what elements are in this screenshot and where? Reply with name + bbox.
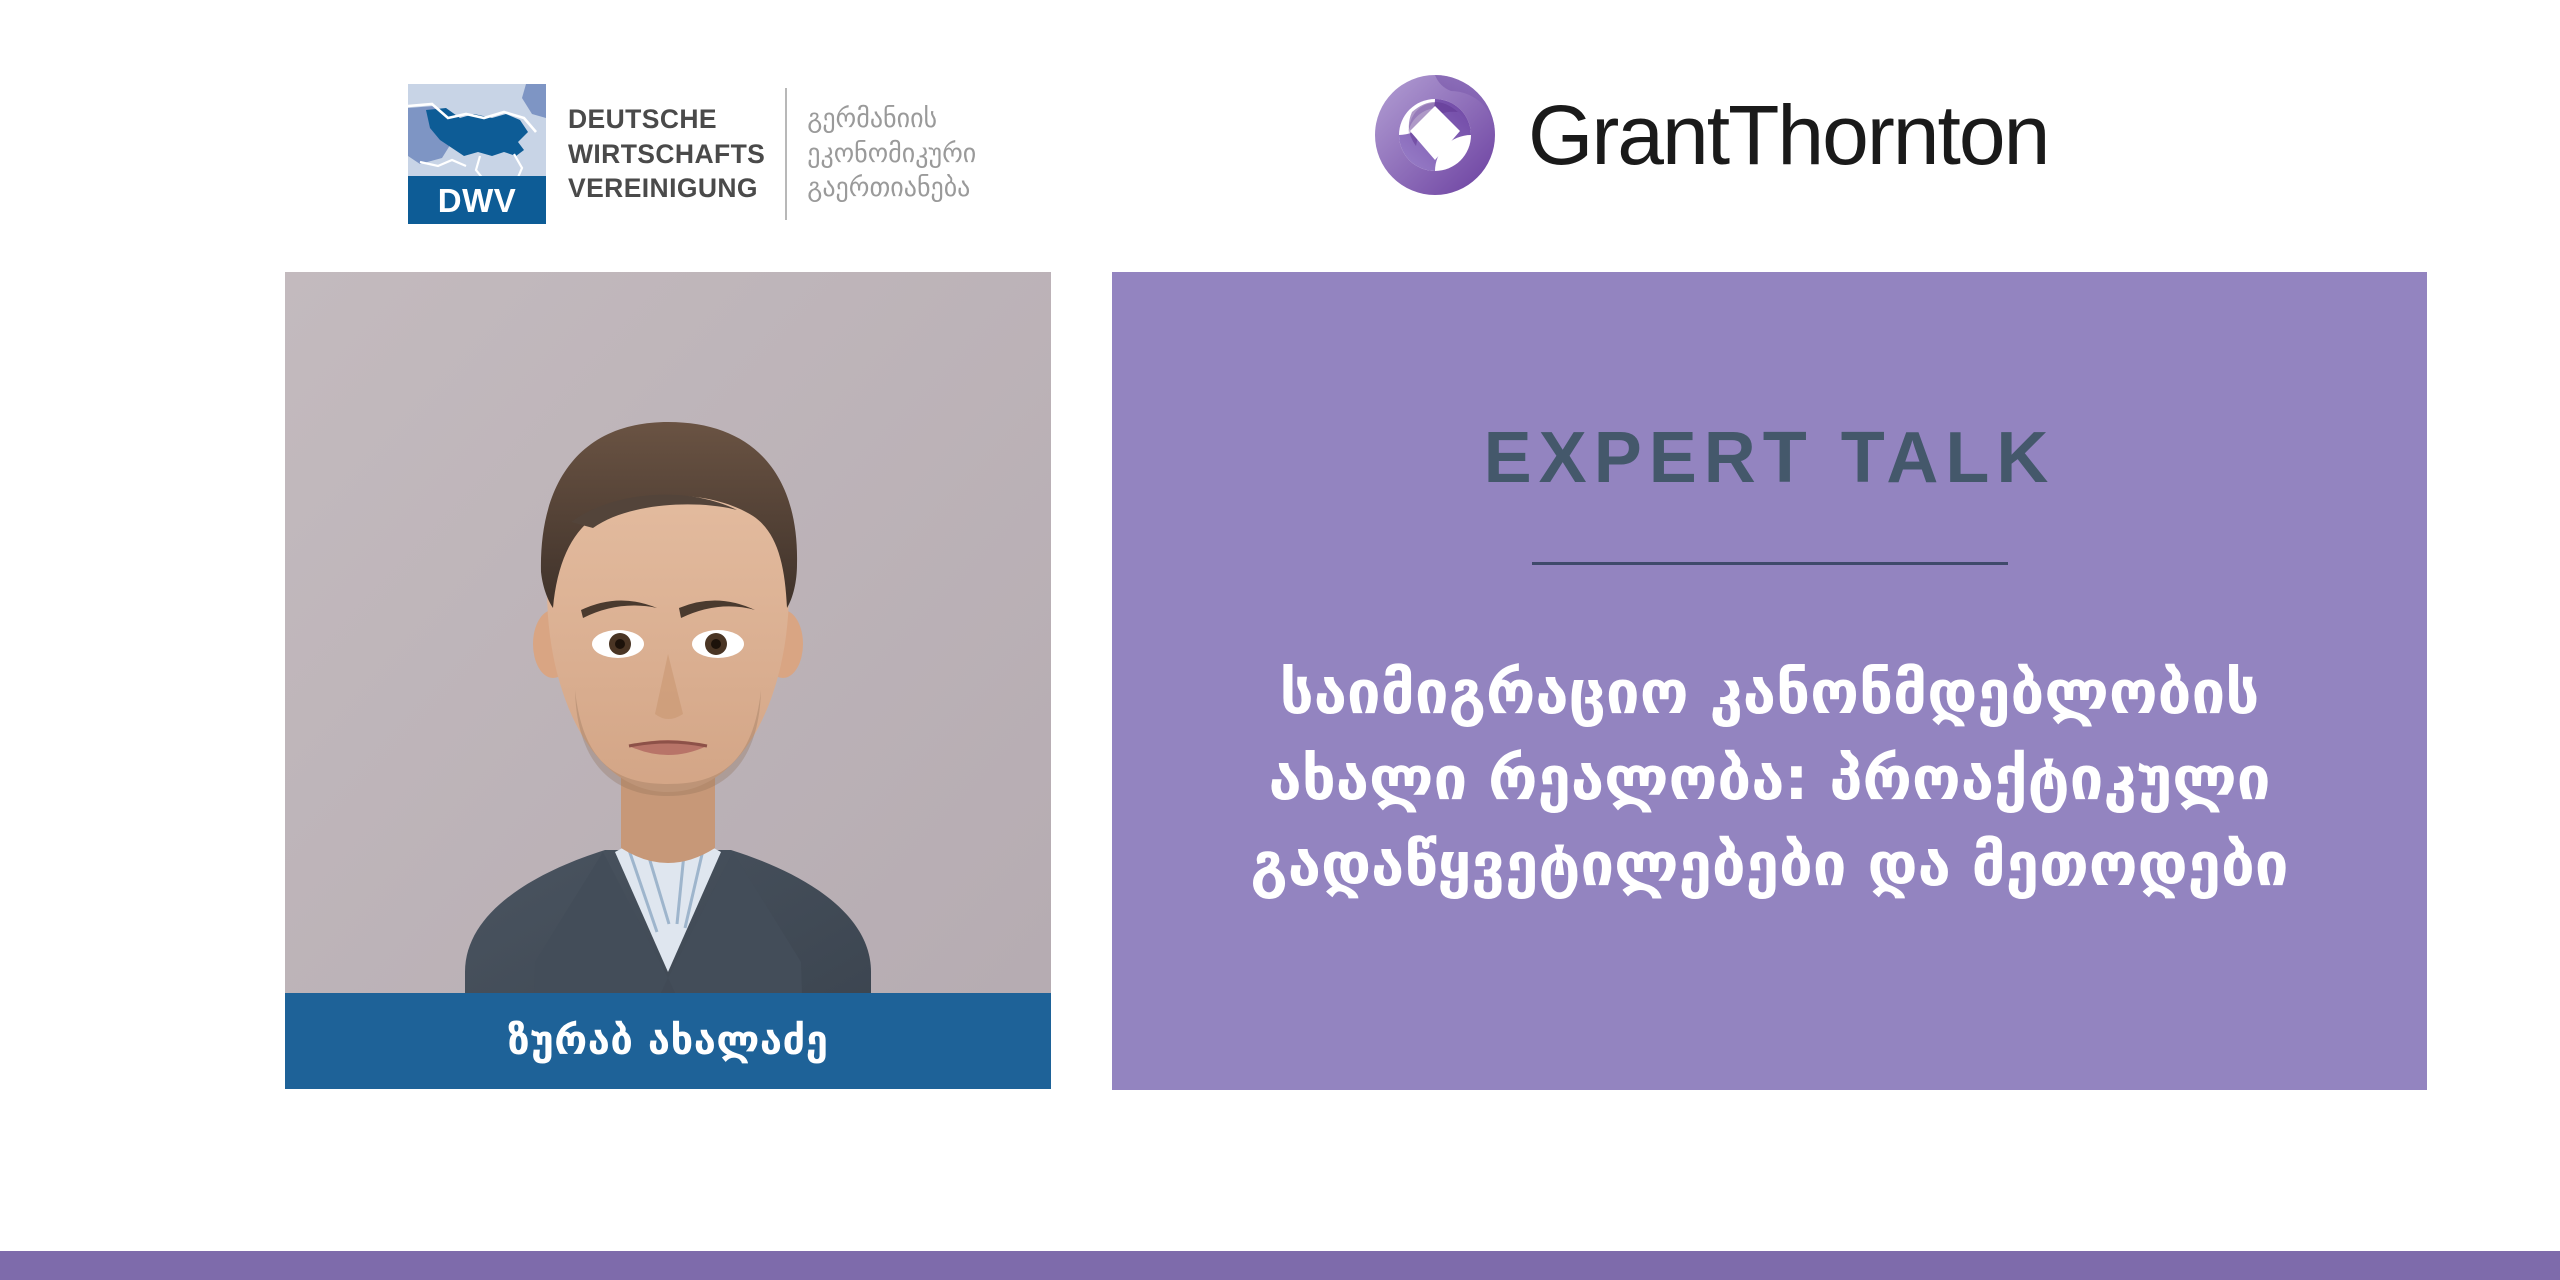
- dwv-logo: DWV DEUTSCHE WIRTSCHAFTS VEREINIGUNG გერ…: [408, 84, 976, 224]
- expert-talk-panel: EXPERT TALK საიმიგრაციო კანონმდებლობის ა…: [1112, 272, 2427, 1090]
- talk-title-line-3: გადაწყვეტილებები და მეთოდები: [1155, 823, 2385, 909]
- grant-thornton-swirl-icon: [1370, 70, 1500, 200]
- grant-thornton-wordmark: GrantThornton: [1528, 93, 2048, 177]
- dwv-wordmark: DEUTSCHE WIRTSCHAFTS VEREINIGUNG გერმანი…: [568, 84, 976, 224]
- dwv-name-georgian: გერმანიის ეკონომიკური გაერთიანება: [807, 102, 976, 206]
- dwv-acronym-label: DWV: [438, 184, 517, 217]
- dwv-divider: [785, 88, 787, 220]
- expert-talk-heading: EXPERT TALK: [1484, 422, 2056, 494]
- dwv-acronym-bar: DWV: [408, 176, 546, 224]
- speaker-name-banner: ზურაბ ახალაძე: [285, 993, 1051, 1089]
- talk-title: საიმიგრაციო კანონმდებლობის ახალი რეალობა…: [1155, 651, 2385, 908]
- grant-thornton-logo: GrantThornton: [1370, 70, 2048, 200]
- event-banner-canvas: DWV DEUTSCHE WIRTSCHAFTS VEREINIGUNG გერ…: [0, 0, 2560, 1280]
- dwv-logo-mark: DWV: [408, 84, 546, 224]
- bottom-accent-strip: [0, 1251, 2560, 1280]
- speaker-photo-card: ზურაბ ახალაძე: [285, 272, 1051, 1089]
- talk-title-line-2: ახალი რეალობა: პროაქტიკული: [1155, 737, 2385, 823]
- speaker-portrait-image: [285, 272, 1051, 1089]
- speaker-name-label: ზურაბ ახალაძე: [508, 1021, 829, 1061]
- dwv-name-german: DEUTSCHE WIRTSCHAFTS VEREINIGUNG: [568, 102, 765, 205]
- heading-divider: [1532, 562, 2008, 565]
- talk-title-line-1: საიმიგრაციო კანონმდებლობის: [1155, 651, 2385, 737]
